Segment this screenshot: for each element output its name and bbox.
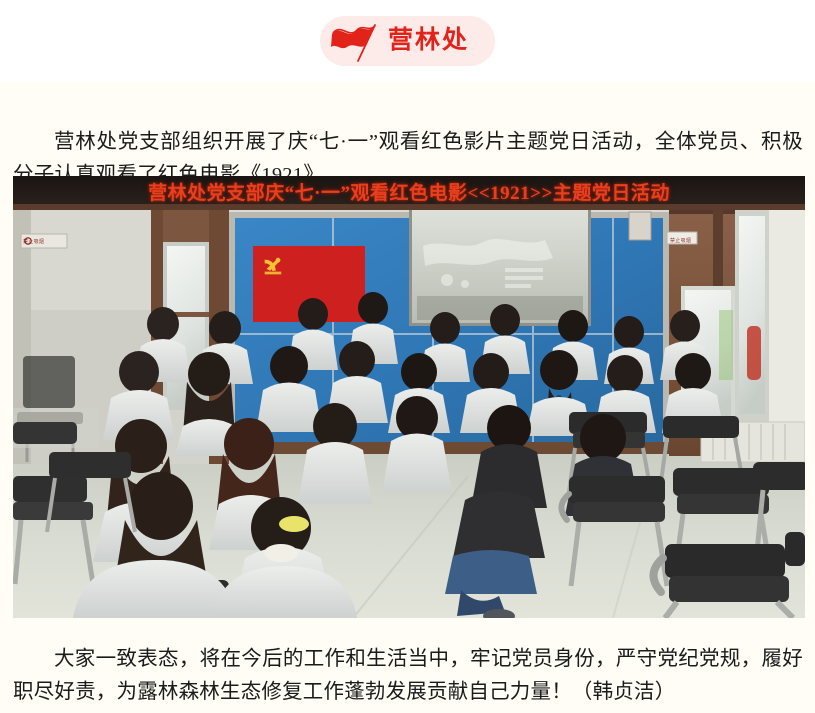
section-title-badge: 营林处 <box>320 16 495 66</box>
activity-photo: 营林处党支部庆“七·一”观看红色电影<<1921>>主题党日活动 禁止吸烟 禁止… <box>13 176 805 618</box>
photo-scene <box>13 176 805 618</box>
section-title-text: 营林处 <box>388 28 469 55</box>
page-header: 营林处 <box>0 0 815 82</box>
article-paragraph-2: 大家一致表态，将在今后的工作和生活当中，牢记党员身份，严守党纪党规，履好职尽好责… <box>13 643 803 709</box>
article-page: 营林处 营林处党支部组织开展了庆“七·一”观看红色影片主题党日活动，全体党员、积… <box>0 0 815 713</box>
red-flag-icon <box>328 19 386 63</box>
